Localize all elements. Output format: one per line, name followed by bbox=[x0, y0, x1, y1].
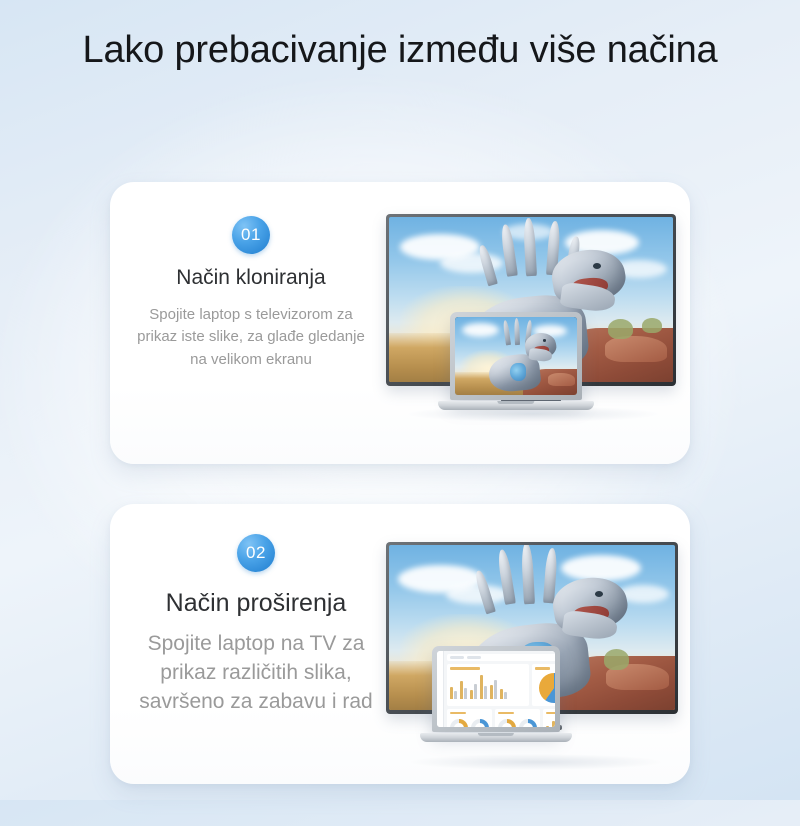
panel-title bbox=[535, 667, 550, 670]
gauge-panel bbox=[447, 709, 492, 728]
dragon-spike bbox=[500, 224, 518, 277]
laptop-base bbox=[438, 401, 594, 410]
dragon-eye bbox=[595, 591, 603, 597]
card-text-column: 01 Način kloniranja Spojite laptop s tel… bbox=[128, 216, 374, 372]
device-shadow bbox=[411, 754, 661, 770]
bar-group bbox=[490, 680, 497, 699]
laptop-screen bbox=[437, 651, 555, 727]
mini-bar-panel bbox=[543, 709, 555, 728]
laptop-screen bbox=[455, 317, 577, 395]
card-title: Način proširenja bbox=[122, 588, 390, 619]
card-description: Spojite laptop na TV za prikaz različiti… bbox=[122, 629, 390, 717]
mini-bar-chart bbox=[546, 717, 555, 727]
gauge-panel bbox=[495, 709, 540, 728]
panel-title bbox=[450, 667, 480, 670]
card-description: Spojite laptop s televizorom za prikaz i… bbox=[128, 304, 374, 372]
card-text-column: 02 Način proširenja Spojite laptop na TV… bbox=[122, 534, 390, 717]
artwork-tv-laptop-mirror bbox=[378, 200, 688, 448]
toolbar-pill bbox=[450, 656, 464, 659]
page-title: Lako prebacivanje između više načina bbox=[50, 26, 750, 75]
donut-chart bbox=[519, 719, 537, 727]
dragon-blue-core bbox=[510, 363, 526, 381]
mode-card-extension[interactable]: 02 Način proširenja Spojite laptop na TV… bbox=[110, 504, 690, 784]
donut-chart bbox=[450, 719, 468, 727]
bar-group bbox=[450, 687, 457, 699]
step-badge: 02 bbox=[237, 534, 275, 572]
laptop-device bbox=[450, 312, 582, 410]
dashboard-ui bbox=[437, 651, 555, 727]
bar-group bbox=[460, 681, 467, 699]
shrub bbox=[642, 318, 662, 333]
dragon-spike bbox=[523, 218, 537, 277]
panel-title bbox=[498, 712, 514, 715]
dragon-eye bbox=[543, 339, 546, 342]
mode-card-cloning[interactable]: 01 Način kloniranja Spojite laptop s tel… bbox=[110, 182, 690, 464]
dashboard-row bbox=[447, 664, 555, 706]
card-title: Način kloniranja bbox=[128, 265, 374, 291]
panel-title bbox=[546, 712, 555, 715]
laptop-lid bbox=[432, 646, 560, 732]
donut-chart bbox=[471, 719, 489, 727]
artwork-tv-laptop-extend bbox=[380, 542, 690, 780]
laptop-device bbox=[432, 646, 560, 742]
dashboard-toolbar bbox=[447, 654, 555, 661]
toolbar-pill bbox=[467, 656, 481, 659]
panel-title bbox=[450, 712, 466, 715]
bar-chart-panel bbox=[447, 664, 529, 706]
donut-chart bbox=[498, 719, 516, 727]
bar-chart bbox=[450, 673, 526, 699]
pie-chart bbox=[539, 673, 555, 703]
card-inner: 02 Način proširenja Spojite laptop na TV… bbox=[110, 504, 690, 784]
dashboard-main bbox=[444, 651, 555, 727]
card-inner: 01 Način kloniranja Spojite laptop s tel… bbox=[110, 182, 690, 464]
dashboard-row bbox=[447, 709, 555, 728]
dragon-landscape-scene-mirrored bbox=[455, 317, 577, 395]
dragon-spike bbox=[473, 570, 495, 614]
laptop-base bbox=[420, 733, 571, 742]
bar-group bbox=[470, 684, 477, 699]
dragon-spike bbox=[502, 320, 511, 345]
dashboard-sidebar bbox=[437, 651, 444, 727]
pie-chart-panel bbox=[532, 664, 555, 706]
dragon-spike bbox=[496, 549, 516, 605]
step-badge: 01 bbox=[232, 216, 270, 254]
dragon-spike bbox=[514, 318, 520, 346]
bar-group bbox=[500, 689, 507, 699]
bar-group bbox=[480, 675, 487, 699]
dragon-figure bbox=[487, 322, 555, 391]
dragon-spike bbox=[477, 245, 497, 287]
laptop-lid bbox=[450, 312, 582, 400]
